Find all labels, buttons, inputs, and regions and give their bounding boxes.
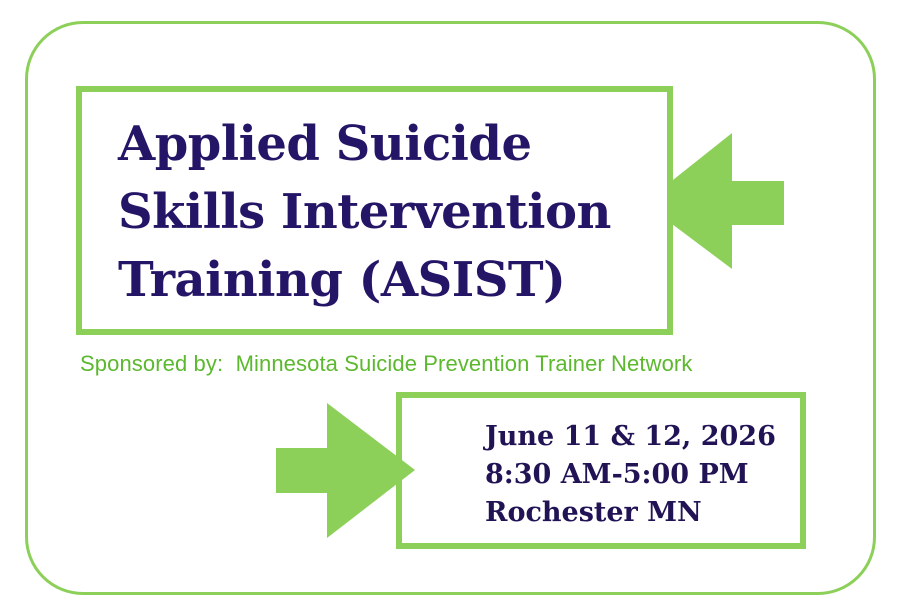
event-location: Rochester MN — [485, 494, 776, 532]
sponsor-line: Sponsored by: Minnesota Suicide Preventi… — [80, 351, 692, 377]
title-line-3: Training (ASIST) — [118, 246, 678, 314]
title-line-2: Skills Intervention — [118, 178, 678, 246]
title-line-1: Applied Suicide — [118, 110, 678, 178]
flyer-canvas: Applied Suicide Skills Intervention Trai… — [0, 0, 900, 616]
arrow-right-icon — [276, 403, 415, 538]
event-details: June 11 & 12, 2026 8:30 AM-5:00 PM Roche… — [485, 418, 776, 532]
page-title: Applied Suicide Skills Intervention Trai… — [118, 110, 678, 314]
title-box: Applied Suicide Skills Intervention Trai… — [76, 86, 673, 335]
event-date: June 11 & 12, 2026 — [485, 418, 776, 456]
event-details-box: June 11 & 12, 2026 8:30 AM-5:00 PM Roche… — [396, 392, 806, 549]
event-time: 8:30 AM-5:00 PM — [485, 456, 776, 494]
